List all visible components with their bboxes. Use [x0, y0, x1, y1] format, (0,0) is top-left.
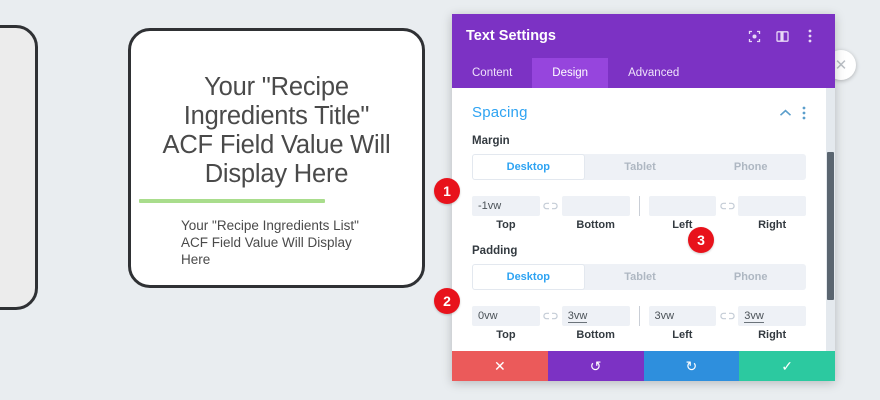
- padding-bottom-value: 3vw: [568, 310, 588, 323]
- margin-bottom-label: Bottom: [562, 219, 630, 231]
- title-divider-rule: [139, 199, 325, 203]
- tab-advanced[interactable]: Advanced: [608, 58, 699, 88]
- close-icon: ✕: [835, 58, 848, 73]
- more-options-icon[interactable]: [799, 25, 821, 47]
- close-icon: ✕: [494, 358, 506, 375]
- margin-device-toggle: Desktop Tablet Phone: [472, 154, 806, 180]
- panel-scroll-content: Spacing Margin Desktop Tablet Phone: [452, 88, 826, 351]
- placeholder-diagonal-stripe: [0, 148, 38, 310]
- margin-device-desktop[interactable]: Desktop: [472, 154, 585, 180]
- padding-right-field[interactable]: 3vw Right: [738, 306, 806, 341]
- padding-top-field[interactable]: 0vw Top: [472, 306, 540, 341]
- padding-top-value: 0vw: [478, 310, 498, 322]
- check-icon: ✓: [781, 358, 793, 375]
- padding-left-value: 3vw: [655, 310, 675, 322]
- focus-icon[interactable]: [743, 25, 765, 47]
- annotation-badge-3: 3: [688, 227, 714, 253]
- spacing-section-header: Spacing: [472, 104, 806, 121]
- panel-title: Text Settings: [466, 28, 737, 44]
- padding-link-leftright-icon[interactable]: [716, 306, 738, 326]
- padding-device-toggle: Desktop Tablet Phone: [472, 264, 806, 290]
- tab-content[interactable]: Content: [452, 58, 532, 88]
- margin-divider: [639, 196, 640, 216]
- padding-right-label: Right: [738, 329, 806, 341]
- margin-link-topbottom-icon[interactable]: [540, 196, 562, 216]
- panel-scrollbar-thumb[interactable]: [827, 152, 834, 300]
- tab-design[interactable]: Design: [532, 58, 608, 88]
- margin-top-field[interactable]: -1vw Top: [472, 196, 540, 231]
- annotation-badge-2: 2: [434, 288, 460, 314]
- margin-top-value: -1vw: [478, 200, 501, 212]
- padding-device-tablet[interactable]: Tablet: [585, 264, 696, 290]
- undo-button[interactable]: ↺: [548, 351, 644, 381]
- layout-toggle-icon[interactable]: [771, 25, 793, 47]
- redo-icon: ↻: [686, 358, 698, 375]
- panel-tabs: Content Design Advanced: [452, 58, 835, 88]
- padding-right-value: 3vw: [744, 310, 764, 323]
- chevron-up-icon[interactable]: [779, 109, 792, 117]
- save-button[interactable]: ✓: [739, 351, 835, 381]
- padding-bottom-label: Bottom: [562, 329, 630, 341]
- section-more-options-icon[interactable]: [802, 106, 806, 120]
- margin-link-leftright-icon[interactable]: [716, 196, 738, 216]
- padding-left-label: Left: [649, 329, 717, 341]
- panel-header: Text Settings: [452, 14, 835, 58]
- padding-bottom-field[interactable]: 3vw Bottom: [562, 306, 630, 341]
- margin-right-field[interactable]: Right: [738, 196, 806, 231]
- cancel-button[interactable]: ✕: [452, 351, 548, 381]
- margin-right-label: Right: [738, 219, 806, 231]
- panel-scrollbar-track[interactable]: [826, 88, 835, 351]
- padding-top-label: Top: [472, 329, 540, 341]
- margin-device-tablet[interactable]: Tablet: [585, 154, 696, 180]
- margin-label: Margin: [472, 135, 806, 147]
- panel-body: Spacing Margin Desktop Tablet Phone: [452, 88, 835, 351]
- padding-device-desktop[interactable]: Desktop: [472, 264, 585, 290]
- margin-top-label: Top: [472, 219, 540, 231]
- padding-label: Padding: [472, 245, 806, 257]
- card-body-text: Your "Recipe Ingredients List" ACF Field…: [181, 217, 366, 268]
- redo-button[interactable]: ↻: [644, 351, 740, 381]
- margin-device-phone[interactable]: Phone: [695, 154, 806, 180]
- recipe-ingredients-card[interactable]: Your "Recipe Ingredients Title" ACF Fiel…: [128, 28, 425, 288]
- padding-inputs-row: 0vw Top 3vw Bottom: [472, 306, 806, 341]
- placeholder-card: [0, 25, 38, 310]
- undo-icon: ↺: [590, 358, 602, 375]
- margin-left-field[interactable]: Left: [649, 196, 717, 231]
- padding-link-topbottom-icon[interactable]: [540, 306, 562, 326]
- annotation-badge-1: 1: [434, 178, 460, 204]
- padding-left-field[interactable]: 3vw Left: [649, 306, 717, 341]
- panel-footer: ✕ ↺ ↻ ✓: [452, 351, 835, 381]
- card-title: Your "Recipe Ingredients Title" ACF Fiel…: [157, 73, 396, 189]
- padding-divider: [639, 306, 640, 326]
- text-settings-panel: Text Settings Content Design Advanced: [452, 14, 835, 381]
- margin-bottom-field[interactable]: Bottom: [562, 196, 630, 231]
- padding-device-phone[interactable]: Phone: [695, 264, 806, 290]
- section-title: Spacing: [472, 104, 769, 121]
- margin-inputs-row: -1vw Top Bottom: [472, 196, 806, 231]
